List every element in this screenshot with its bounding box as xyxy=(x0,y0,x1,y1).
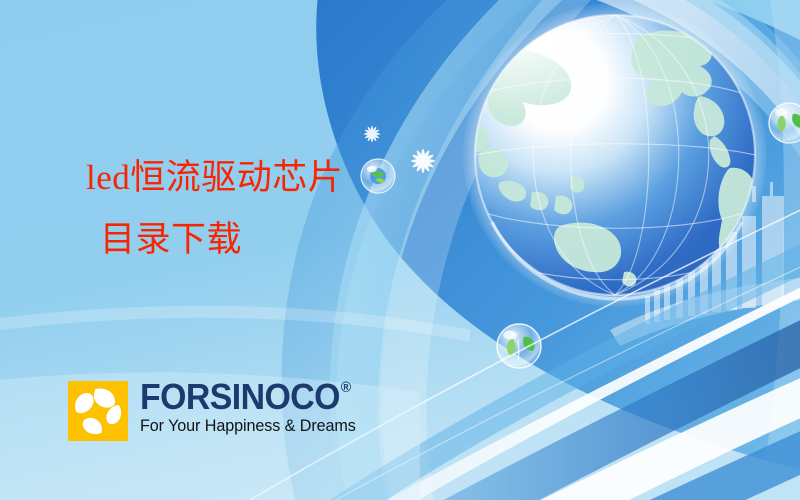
banner-canvas: led恒流驱动芯片 目录下载 FORSINOCO ® For Your Happ… xyxy=(0,0,800,500)
logo-text-block: FORSINOCO ® For Your Happiness & Dreams xyxy=(140,379,364,435)
company-logo: FORSINOCO ® For Your Happiness & Dreams xyxy=(68,381,364,441)
four-petal-pinwheel-icon xyxy=(68,381,128,441)
bubble-globe-icon xyxy=(361,159,395,193)
logo-wordmark-text: FORSINOCO xyxy=(140,379,340,415)
registered-trademark-icon: ® xyxy=(341,380,351,395)
logo-tagline: For Your Happiness & Dreams xyxy=(140,418,356,435)
logo-wordmark: FORSINOCO ® xyxy=(140,379,351,415)
bubble-leaf-icon xyxy=(497,324,541,368)
